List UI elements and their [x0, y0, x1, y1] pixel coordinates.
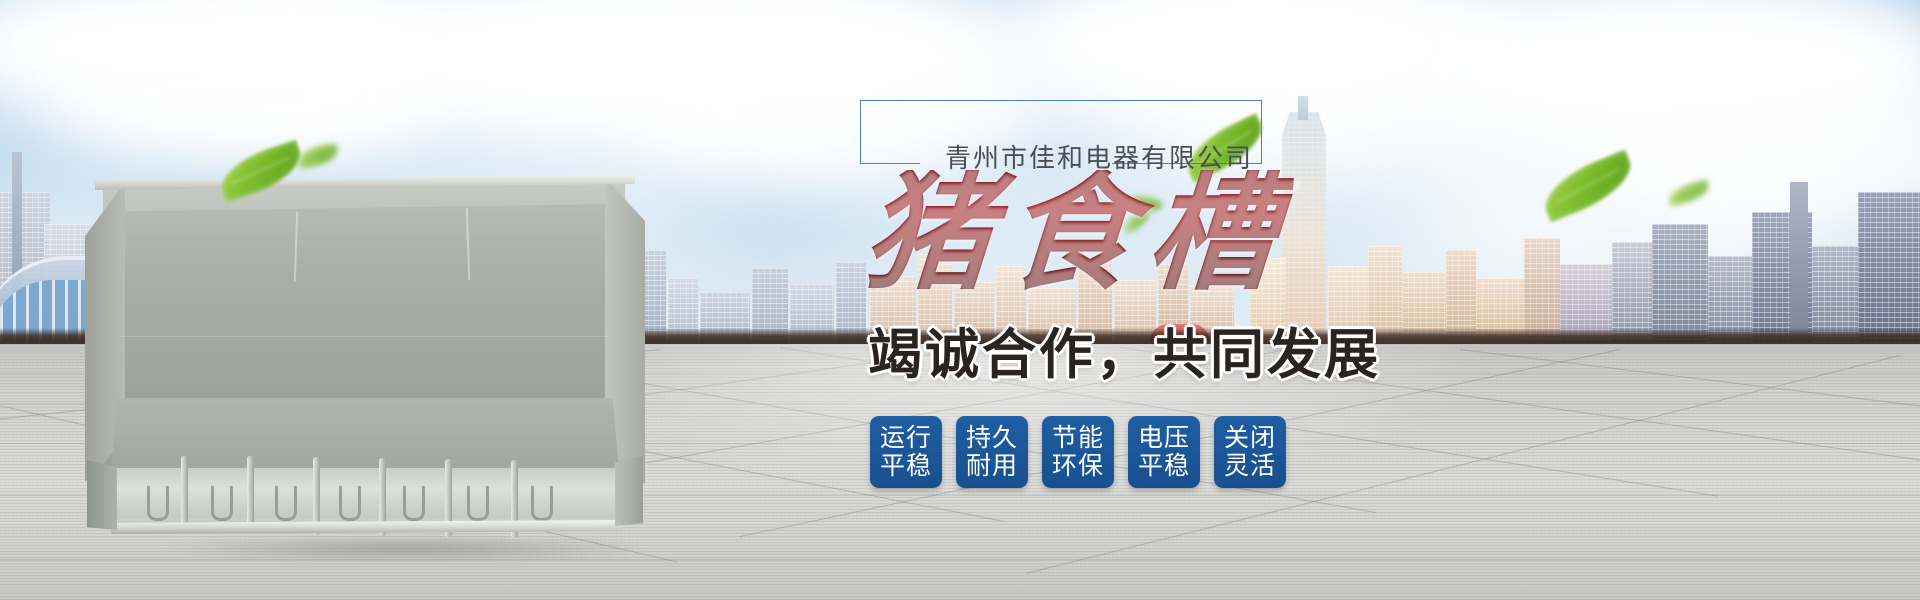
subtitle-slogan: 竭诚合作，共同发展 — [868, 328, 1381, 382]
badge-line-1: 关闭 — [1224, 424, 1276, 452]
badge-line-2: 平稳 — [1138, 452, 1190, 480]
feature-badge[interactable]: 电压 平稳 — [1128, 416, 1200, 488]
banner-text-block: 青州市佳和电器有限公司 猪食槽 竭诚合作，共同发展 运行 平稳 持久 耐用 节能… — [850, 100, 1570, 164]
badge-line-1: 运行 — [880, 424, 932, 452]
badge-line-1: 持久 — [966, 424, 1018, 452]
badge-line-1: 电压 — [1138, 424, 1190, 452]
badge-line-2: 耐用 — [966, 452, 1018, 480]
pig-feeder-trough-product — [85, 168, 645, 560]
badge-line-2: 灵活 — [1224, 452, 1276, 480]
badge-line-2: 环保 — [1052, 452, 1104, 480]
company-name-frame: 青州市佳和电器有限公司 — [860, 100, 1262, 164]
badge-line-2: 平稳 — [880, 452, 932, 480]
main-title: 猪食槽 — [860, 170, 1295, 298]
badge-line-1: 节能 — [1052, 424, 1104, 452]
feature-badge-list: 运行 平稳 持久 耐用 节能 环保 电压 平稳 关闭 灵活 — [870, 416, 1286, 488]
feature-badge[interactable]: 持久 耐用 — [956, 416, 1028, 488]
feature-badge[interactable]: 运行 平稳 — [870, 416, 942, 488]
feature-badge[interactable]: 节能 环保 — [1042, 416, 1114, 488]
feature-badge[interactable]: 关闭 灵活 — [1214, 416, 1286, 488]
promo-banner: 青州市佳和电器有限公司 猪食槽 竭诚合作，共同发展 运行 平稳 持久 耐用 节能… — [0, 0, 1920, 600]
